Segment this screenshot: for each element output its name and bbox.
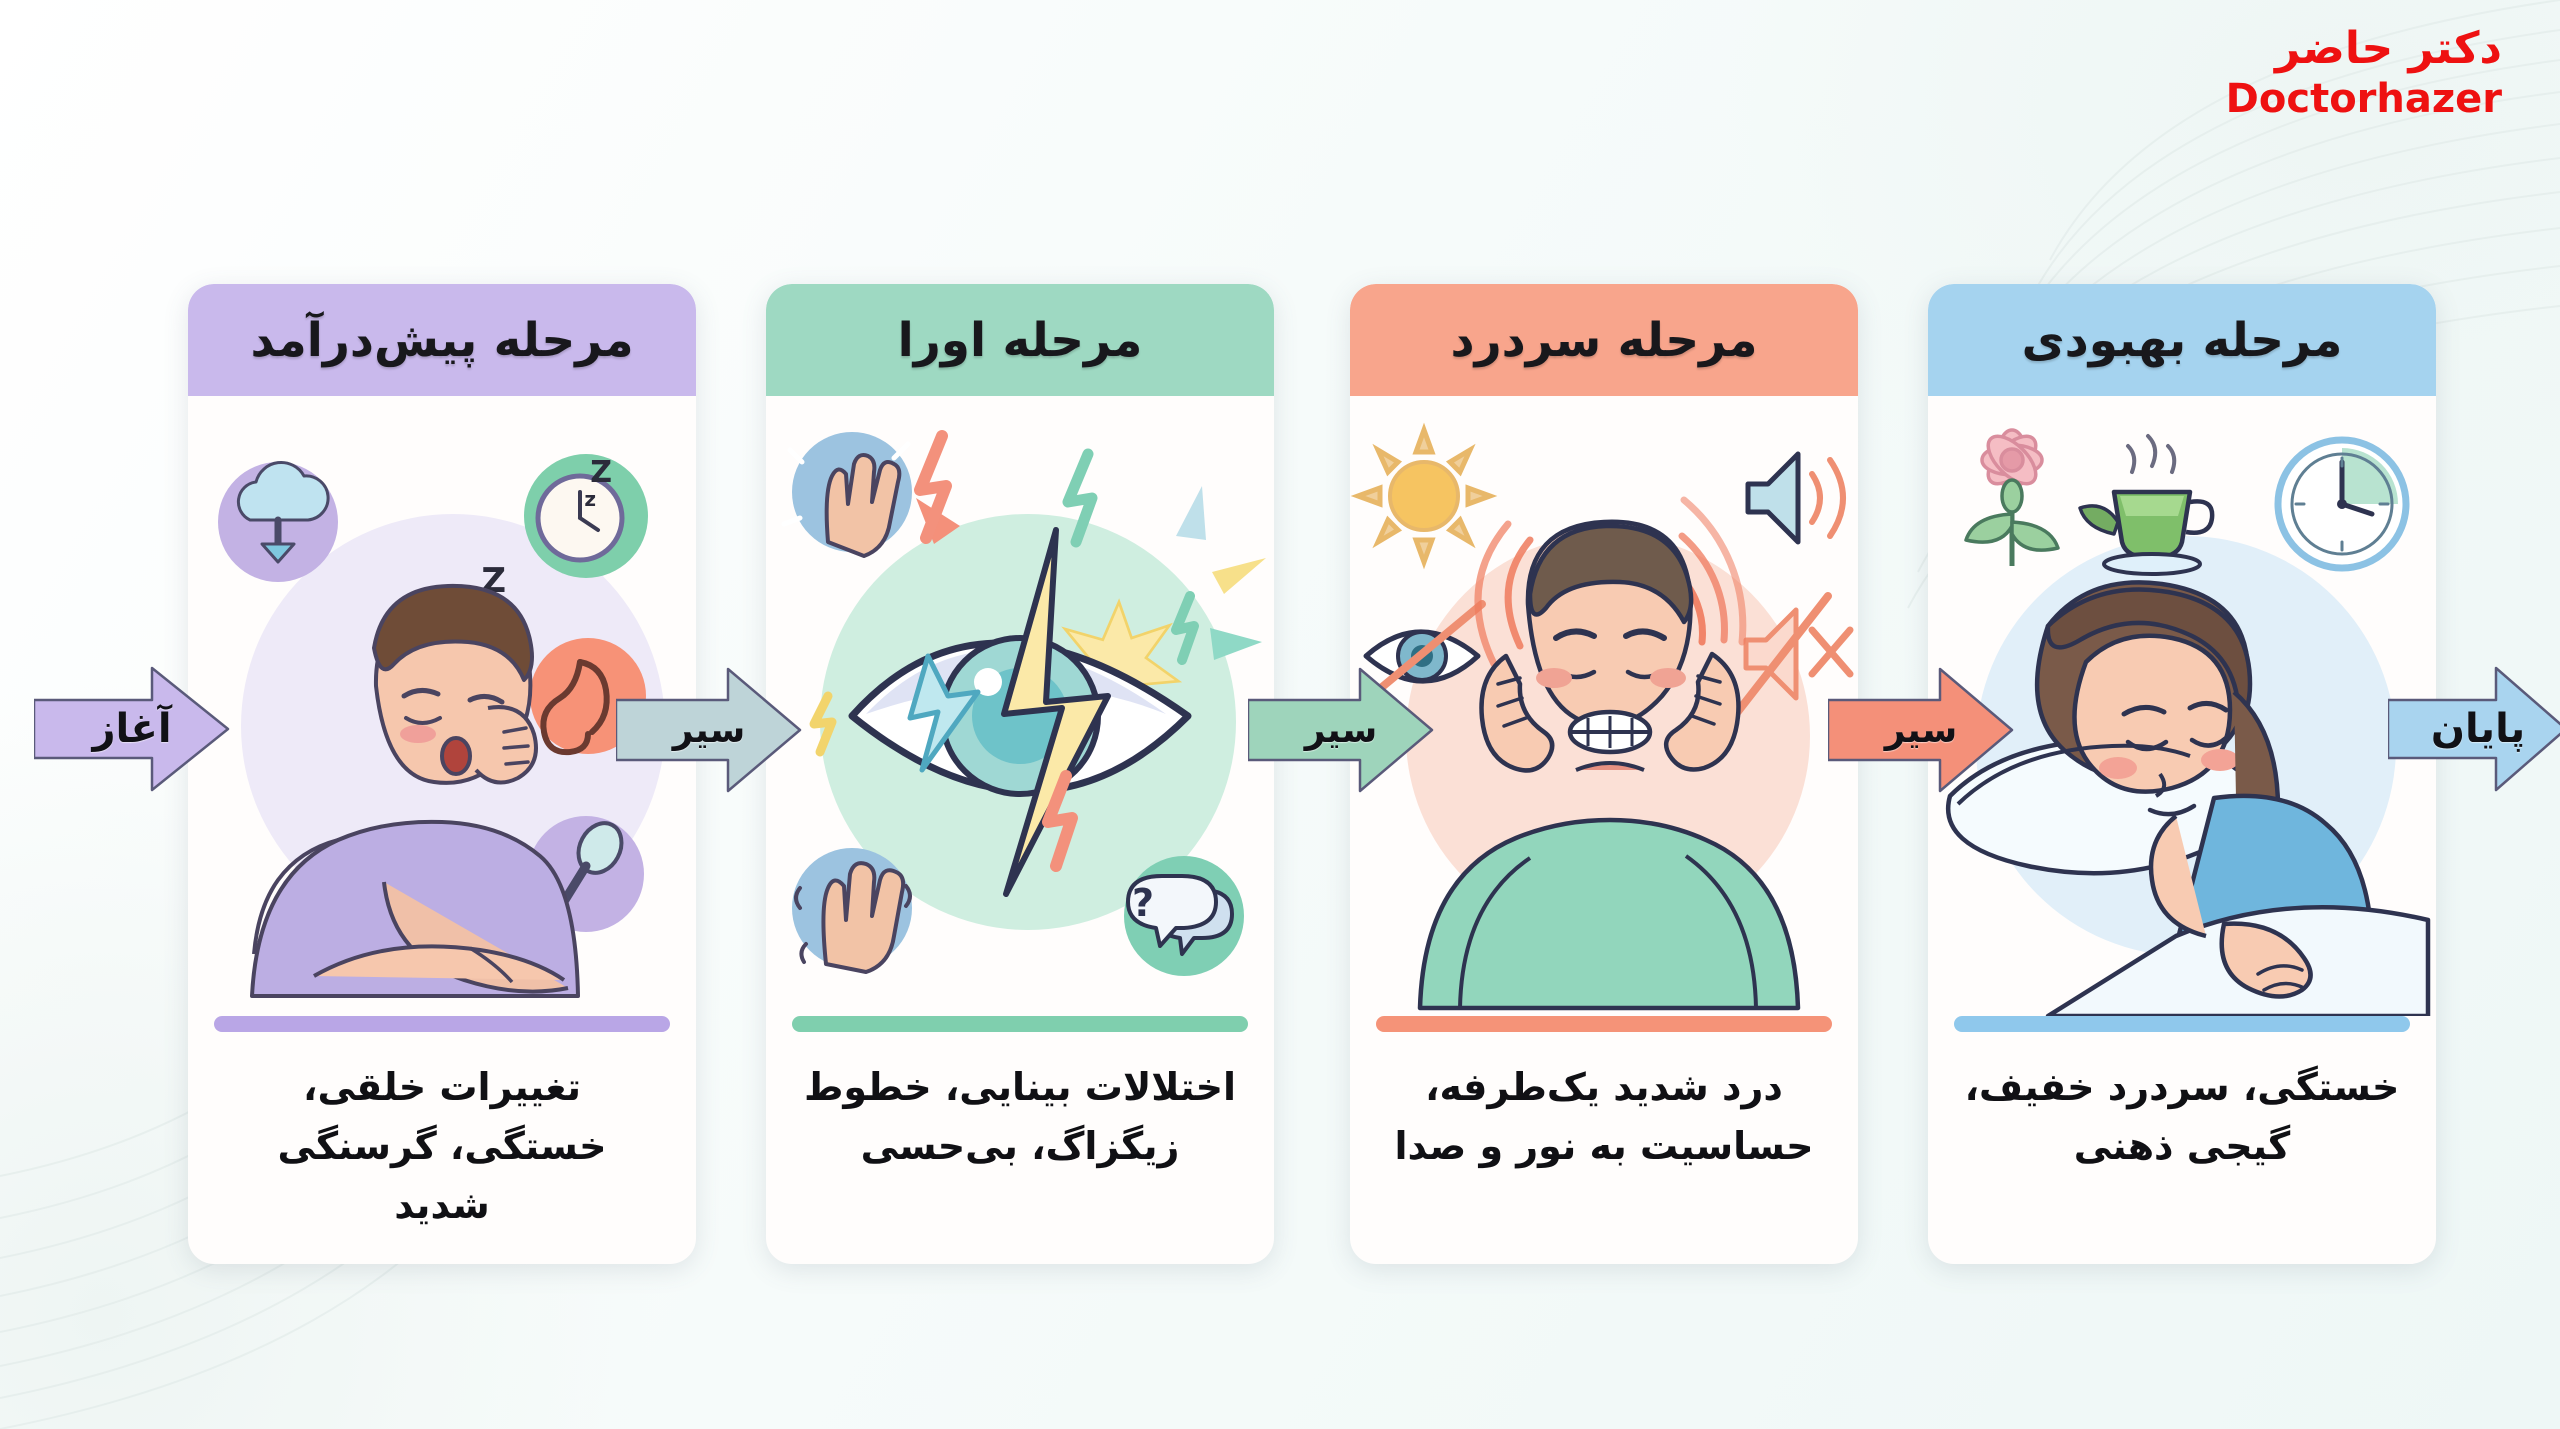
clock-sleep-icon: Z z — [524, 454, 648, 578]
stage-card-prodrome-caption: تغییرات خلقی، خستگی، گرسنگی شدید — [224, 1058, 660, 1235]
start-arrow: آغاز — [34, 664, 230, 794]
stage-card-recovery-caption-wrap: خستگی، سردرد خفیف، گیجی ذهنی — [1928, 1032, 2436, 1176]
progress-arrow-3-label: سیر — [1885, 710, 1958, 751]
progress-arrow-1: سیر — [616, 666, 802, 794]
stage-card-recovery-title: مرحله بهبودی — [2022, 313, 2343, 368]
stage-card-recovery-caption: خستگی، سردرد خفیف، گیجی ذهنی — [1964, 1058, 2400, 1176]
stage-card-aura-title: مرحله اورا — [898, 313, 1143, 368]
speaker-loud-icon — [1748, 454, 1843, 542]
stage-card-prodrome-title: مرحله پیش‌درآمد — [250, 313, 633, 368]
cloud-down-icon — [218, 462, 338, 582]
numb-hand-icon — [792, 848, 912, 972]
logo-english-text: Doctorhazer — [2226, 78, 2502, 120]
stage-card-headache-caption: درد شدید یک‌طرفه، حساسیت به نور و صدا — [1386, 1058, 1822, 1176]
stage-card-aura[interactable]: مرحله اورا — [766, 284, 1274, 1264]
progress-arrow-1-label: سیر — [673, 710, 746, 751]
stage-card-recovery-rule — [1954, 1016, 2410, 1032]
stage-card-headache-rule — [1376, 1016, 1832, 1032]
stage-card-aura-header: مرحله اورا — [766, 284, 1274, 396]
stage-card-headache-title: مرحله سردرد — [1451, 313, 1758, 368]
stage-card-headache-header: مرحله سردرد — [1350, 284, 1858, 396]
stage-card-aura-caption: اختلالات بینایی، خطوط زیگزاگ، بی‌حسی — [802, 1058, 1238, 1176]
stage-card-aura-rule — [792, 1016, 1248, 1032]
end-arrow-label: پایان — [2431, 706, 2525, 752]
progress-arrow-2-label: سیر — [1305, 710, 1378, 751]
stage-card-headache-caption-wrap: درد شدید یک‌طرفه، حساسیت به نور و صدا — [1350, 1032, 1858, 1176]
svg-text:Z: Z — [590, 455, 612, 490]
end-arrow: پایان — [2388, 664, 2560, 794]
brand-logo: دکتر حاضر Doctorhazer — [2226, 26, 2502, 120]
stage-card-prodrome-rule — [214, 1016, 670, 1032]
stage-card-prodrome-header: مرحله پیش‌درآمد — [188, 284, 696, 396]
clock-icon — [2278, 440, 2406, 568]
progress-arrow-3: سیر — [1828, 666, 2014, 794]
progress-arrow-2: سیر — [1248, 666, 1434, 794]
speech-question-icon: ? — [1124, 856, 1244, 976]
stage-card-prodrome-caption-wrap: تغییرات خلقی، خستگی، گرسنگی شدید — [188, 1032, 696, 1235]
stage-card-aura-caption-wrap: اختلالات بینایی، خطوط زیگزاگ، بی‌حسی — [766, 1032, 1274, 1176]
svg-text:z: z — [584, 487, 596, 511]
migraine-stage-flow: آغاز مرحله پیش‌درآمد — [0, 0, 2560, 1429]
tingling-hand-icon — [784, 432, 912, 556]
logo-persian-text: دکتر حاضر — [2226, 26, 2502, 72]
stage-card-aura-illustration: ? — [766, 396, 1274, 1016]
sun-icon — [1358, 430, 1490, 562]
svg-text:?: ? — [1132, 881, 1154, 925]
stage-card-recovery-header: مرحله بهبودی — [1928, 284, 2436, 396]
start-arrow-label: آغاز — [92, 706, 171, 752]
flower-icon — [1966, 428, 2058, 566]
